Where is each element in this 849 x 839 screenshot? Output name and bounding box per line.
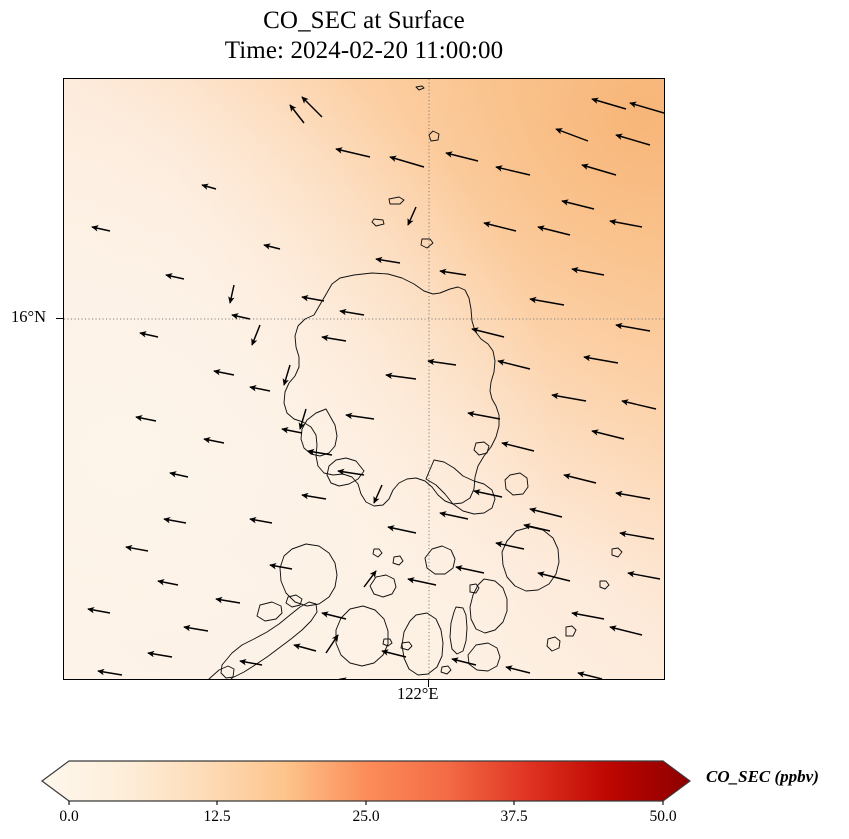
figure-title: CO_SEC at Surface Time: 2024-02-20 11:00… [0,6,728,65]
colorbar[interactable] [37,757,691,805]
cosec-filled-field [64,79,665,680]
y-axis-tick-label: 16°N [11,307,46,327]
colorbar-gradient-bar [42,761,690,801]
y-axis-tick-mark [56,318,63,319]
title-line-time: Time: 2024-02-20 11:00:00 [0,36,728,66]
colorbar-tick-25: 25.0 [352,808,379,826]
colorbar-tick-37-5: 37.5 [500,808,527,826]
colorbar-canvas [37,757,691,805]
x-axis-tick-label: 122°E [397,684,438,704]
map-plot-area[interactable] [63,78,665,680]
colorbar-tick-labels: 0.0 12.5 25.0 37.5 50.0 [0,808,849,830]
colorbar-label: CO_SEC (ppbv) [706,767,819,787]
colorbar-tick-0: 0.0 [59,808,78,826]
title-line-variable: CO_SEC at Surface [0,6,728,36]
colorbar-tick-50: 50.0 [649,808,676,826]
colorbar-tick-12-5: 12.5 [203,808,230,826]
map-canvas [64,79,665,680]
